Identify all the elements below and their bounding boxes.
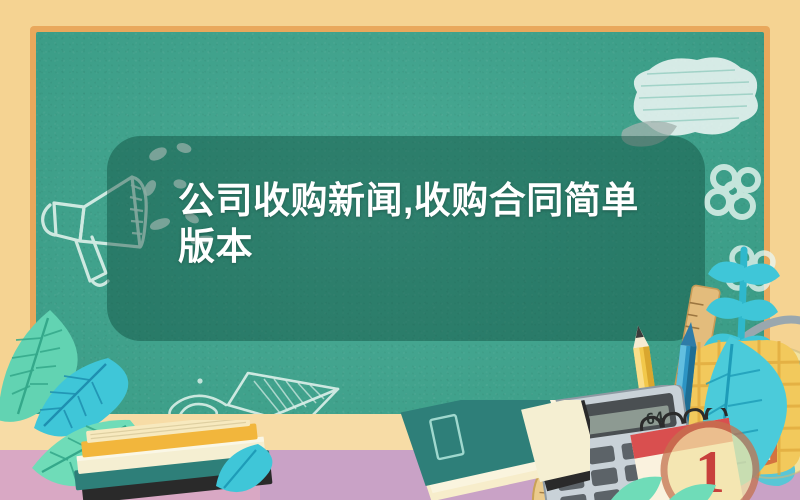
- small-leaf-icon: [210, 440, 290, 500]
- leafy-plant-icon: [600, 455, 730, 500]
- cover-image: 公司收购新闻,收购合同简单版本: [0, 0, 800, 500]
- page-title: 公司收购新闻,收购合同简单版本: [178, 178, 648, 270]
- flower-icon: [700, 160, 770, 230]
- open-book-icon: [290, 400, 590, 500]
